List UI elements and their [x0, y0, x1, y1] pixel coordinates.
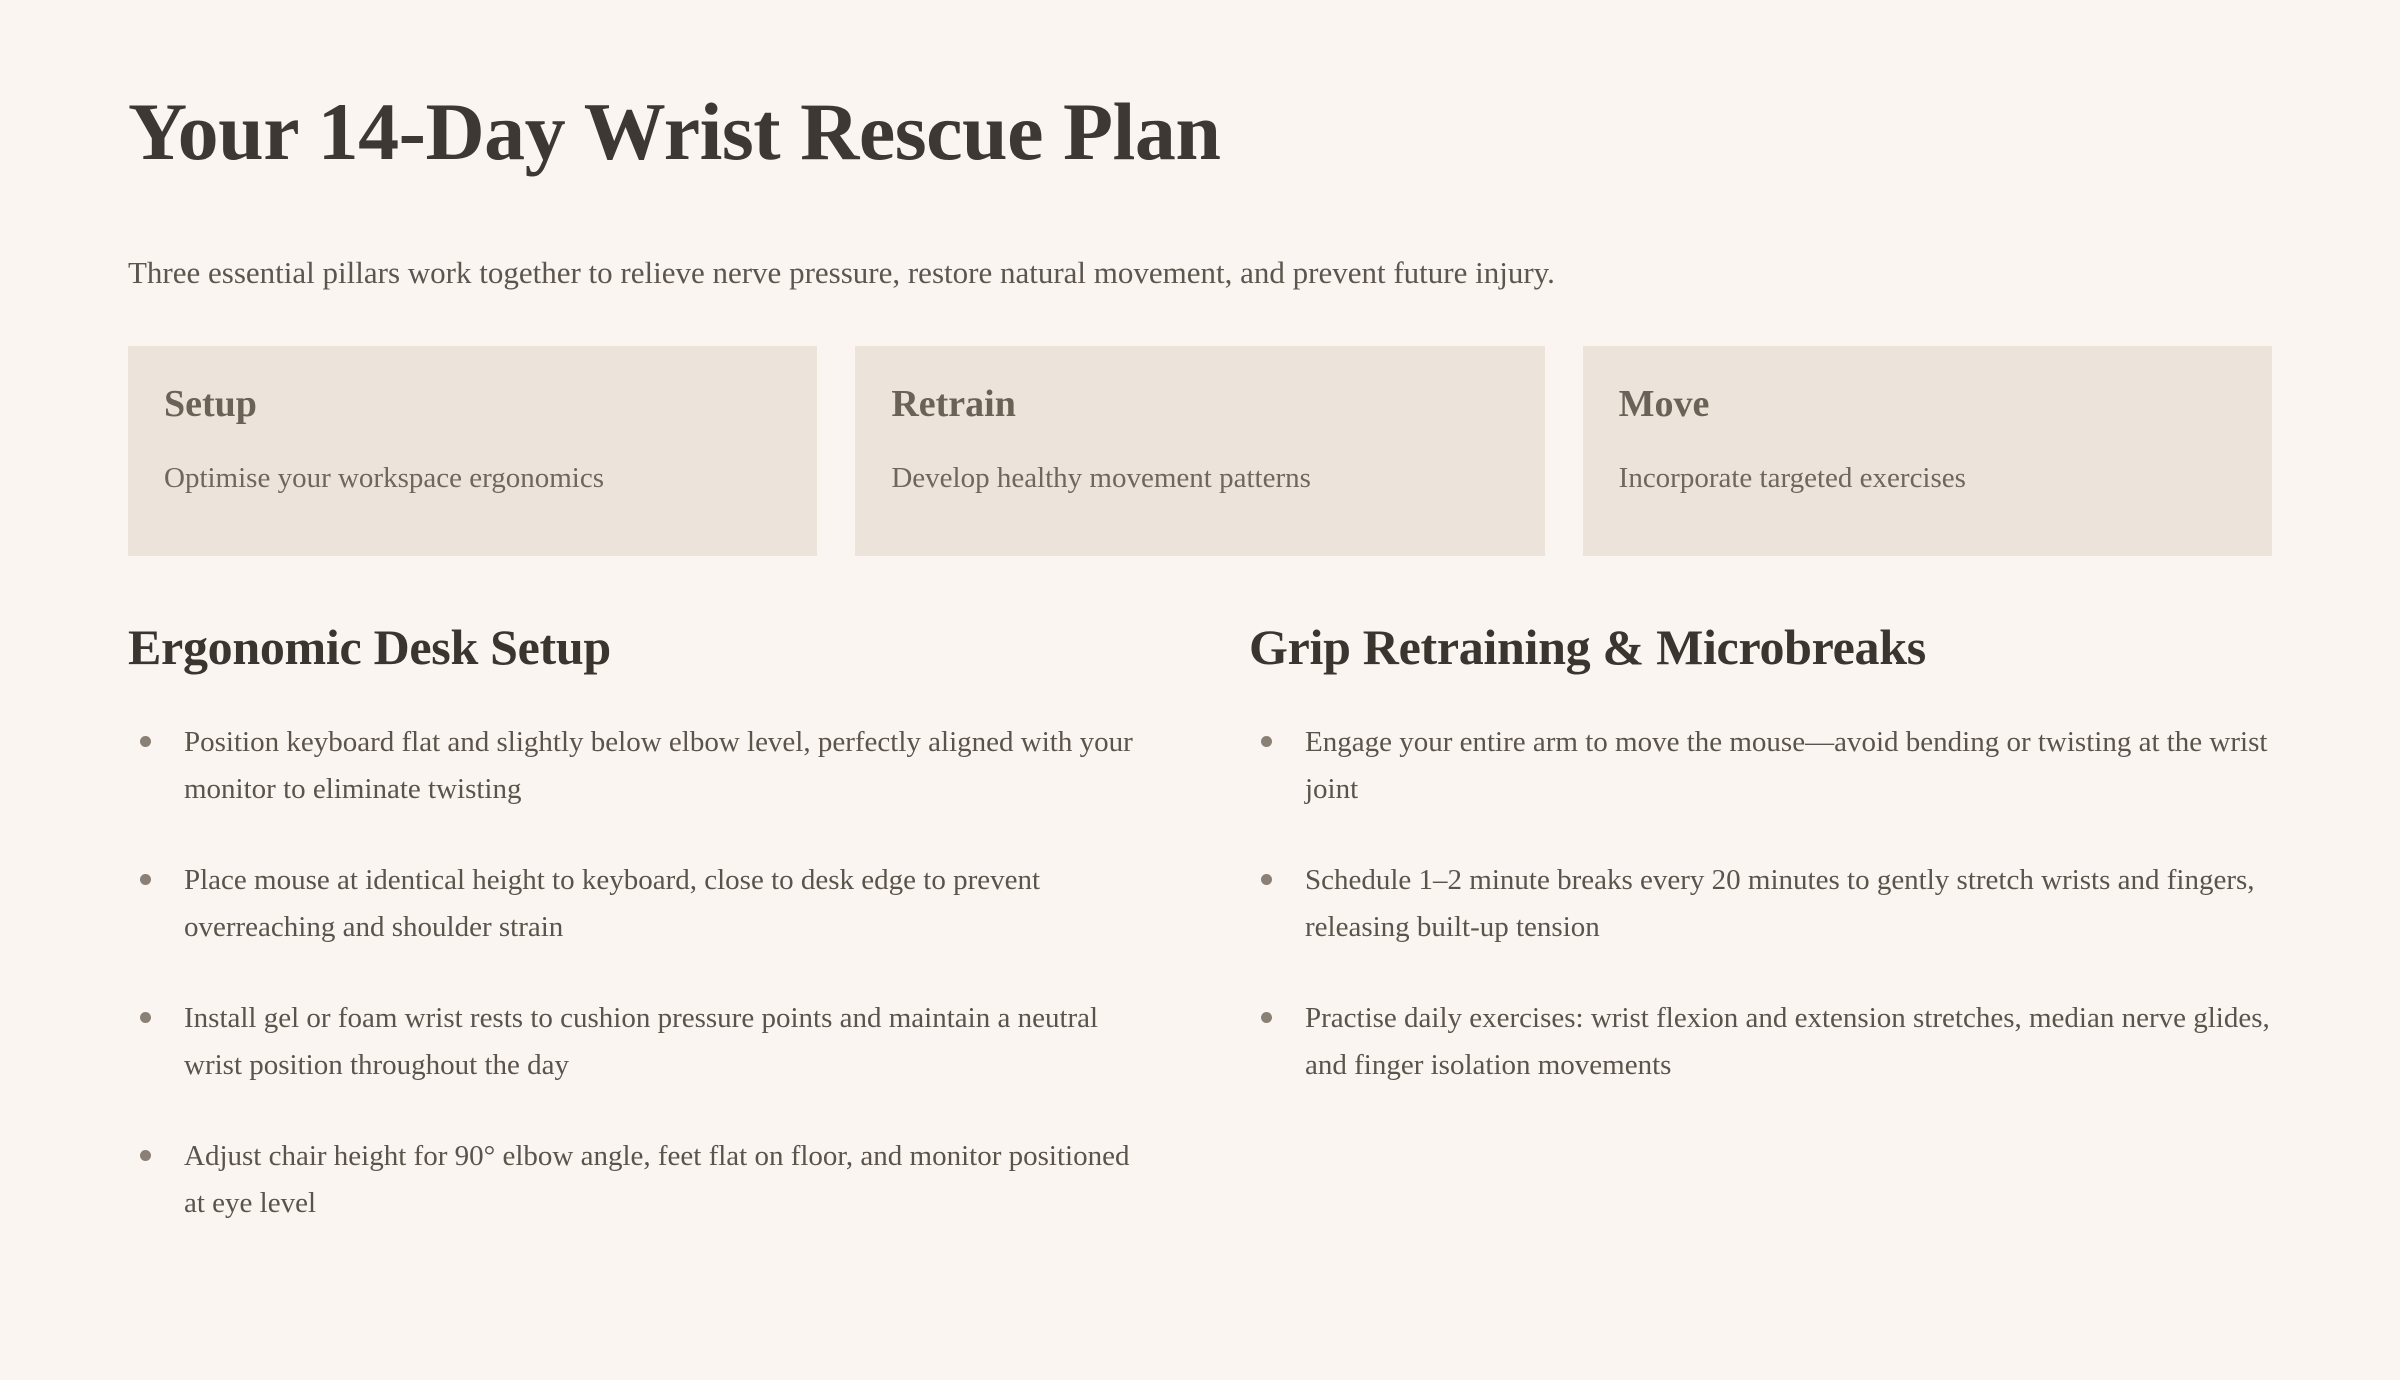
- bullet-list: Position keyboard flat and slightly belo…: [128, 719, 1151, 1227]
- bullet-dot-icon: [140, 1150, 151, 1161]
- content-columns: Ergonomic Desk Setup Position keyboard f…: [128, 620, 2272, 1227]
- bullet-dot-icon: [140, 1012, 151, 1023]
- page-subtitle: Three essential pillars work together to…: [128, 177, 2272, 294]
- list-item-text: Position keyboard flat and slightly belo…: [184, 726, 1133, 805]
- list-item: Schedule 1–2 minute breaks every 20 minu…: [1249, 857, 2272, 951]
- list-item: Engage your entire arm to move the mouse…: [1249, 719, 2272, 813]
- list-item-text: Engage your entire arm to move the mouse…: [1305, 726, 2267, 805]
- list-item-text: Practise daily exercises: wrist flexion …: [1305, 1002, 2270, 1081]
- list-item: Practise daily exercises: wrist flexion …: [1249, 995, 2272, 1089]
- pillar-card-description: Develop healthy movement patterns: [891, 460, 1508, 498]
- column-grip-retraining-microbreaks: Grip Retraining & Microbreaks Engage you…: [1249, 620, 2272, 1227]
- list-item-text: Schedule 1–2 minute breaks every 20 minu…: [1305, 864, 2255, 943]
- list-item: Position keyboard flat and slightly belo…: [128, 719, 1151, 813]
- pillar-card-move: Move Incorporate targeted exercises: [1583, 346, 2272, 556]
- list-item: Adjust chair height for 90° elbow angle,…: [128, 1133, 1151, 1227]
- bullet-dot-icon: [1261, 736, 1272, 747]
- section-heading: Ergonomic Desk Setup: [128, 620, 1151, 675]
- pillar-card-title: Setup: [164, 384, 781, 426]
- column-ergonomic-desk-setup: Ergonomic Desk Setup Position keyboard f…: [128, 620, 1151, 1227]
- bullet-dot-icon: [1261, 874, 1272, 885]
- list-item-text: Adjust chair height for 90° elbow angle,…: [184, 1140, 1129, 1219]
- section-heading: Grip Retraining & Microbreaks: [1249, 620, 2272, 675]
- pillar-card-description: Optimise your workspace ergonomics: [164, 460, 781, 498]
- pillar-card-group: Setup Optimise your workspace ergonomics…: [128, 346, 2272, 556]
- page-title: Your 14-Day Wrist Rescue Plan: [128, 0, 2272, 177]
- list-item: Place mouse at identical height to keybo…: [128, 857, 1151, 951]
- list-item-text: Place mouse at identical height to keybo…: [184, 864, 1040, 943]
- bullet-dot-icon: [140, 736, 151, 747]
- pillar-card-title: Retrain: [891, 384, 1508, 426]
- page-root: Your 14-Day Wrist Rescue Plan Three esse…: [0, 0, 2400, 1380]
- bullet-list: Engage your entire arm to move the mouse…: [1249, 719, 2272, 1089]
- pillar-card-retrain: Retrain Develop healthy movement pattern…: [855, 346, 1544, 556]
- pillar-card-setup: Setup Optimise your workspace ergonomics: [128, 346, 817, 556]
- bullet-dot-icon: [1261, 1012, 1272, 1023]
- pillar-card-description: Incorporate targeted exercises: [1619, 460, 2236, 498]
- bullet-dot-icon: [140, 874, 151, 885]
- list-item: Install gel or foam wrist rests to cushi…: [128, 995, 1151, 1089]
- pillar-card-title: Move: [1619, 384, 2236, 426]
- list-item-text: Install gel or foam wrist rests to cushi…: [184, 1002, 1098, 1081]
